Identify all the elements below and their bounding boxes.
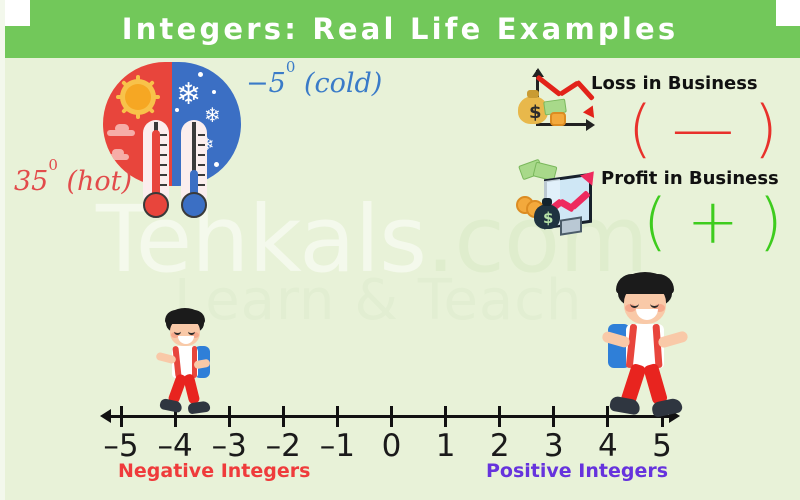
number-line-label: 2 <box>478 428 522 464</box>
profit-icon: $ <box>516 162 602 236</box>
number-line-tick <box>282 406 285 427</box>
number-line-label: 0 <box>370 428 414 464</box>
number-line-tick <box>228 406 231 427</box>
number-line-tick <box>552 406 555 427</box>
plus-sign: ( + ) <box>643 185 783 258</box>
number-line-tick <box>444 406 447 427</box>
number-line-label: –5 <box>99 428 143 464</box>
number-line-label: –3 <box>207 428 251 464</box>
loss-in-business-label: Loss in Business <box>591 73 758 94</box>
cold-word: (cold) <box>304 68 382 99</box>
slide-canvas: Tehkals.com Learn & Teach Integers: Real… <box>0 0 800 500</box>
number-line-label: –2 <box>261 428 305 464</box>
number-line-tick <box>390 406 393 427</box>
cold-temperature-label: −50 (cold) <box>246 68 382 99</box>
hot-word: (hot) <box>67 166 133 197</box>
left-edge-strip <box>0 0 5 500</box>
boy-walking-left <box>150 308 220 416</box>
hot-degree: 0 <box>48 156 58 174</box>
number-line-label: 5 <box>640 428 684 464</box>
hot-value: 35 <box>14 166 48 197</box>
positive-integers-caption: Positive Integers <box>486 460 668 482</box>
number-line-label: –4 <box>153 428 197 464</box>
number-line-tick <box>336 406 339 427</box>
snowflake-icon: ❄ <box>204 106 221 126</box>
sun-icon <box>125 84 151 110</box>
loss-icon: $ <box>516 68 596 134</box>
negative-integers-caption: Negative Integers <box>118 460 310 482</box>
boy-walking-right <box>596 272 696 416</box>
cold-value: −5 <box>246 68 286 99</box>
cold-degree: 0 <box>286 58 296 76</box>
number-line-label: 3 <box>532 428 576 464</box>
number-line-label: –1 <box>315 428 359 464</box>
number-line-label: 1 <box>424 428 468 464</box>
number-line-tick <box>120 406 123 427</box>
minus-sign: ( — ) <box>628 92 778 165</box>
hot-temperature-label: 350 (hot) <box>14 166 132 197</box>
left-arrow-icon <box>100 409 111 423</box>
page-title: Integers: Real Life Examples <box>0 0 800 58</box>
snowflake-icon: ❄ <box>176 80 201 110</box>
number-line-tick <box>498 406 501 427</box>
number-line-label: 4 <box>586 428 630 464</box>
